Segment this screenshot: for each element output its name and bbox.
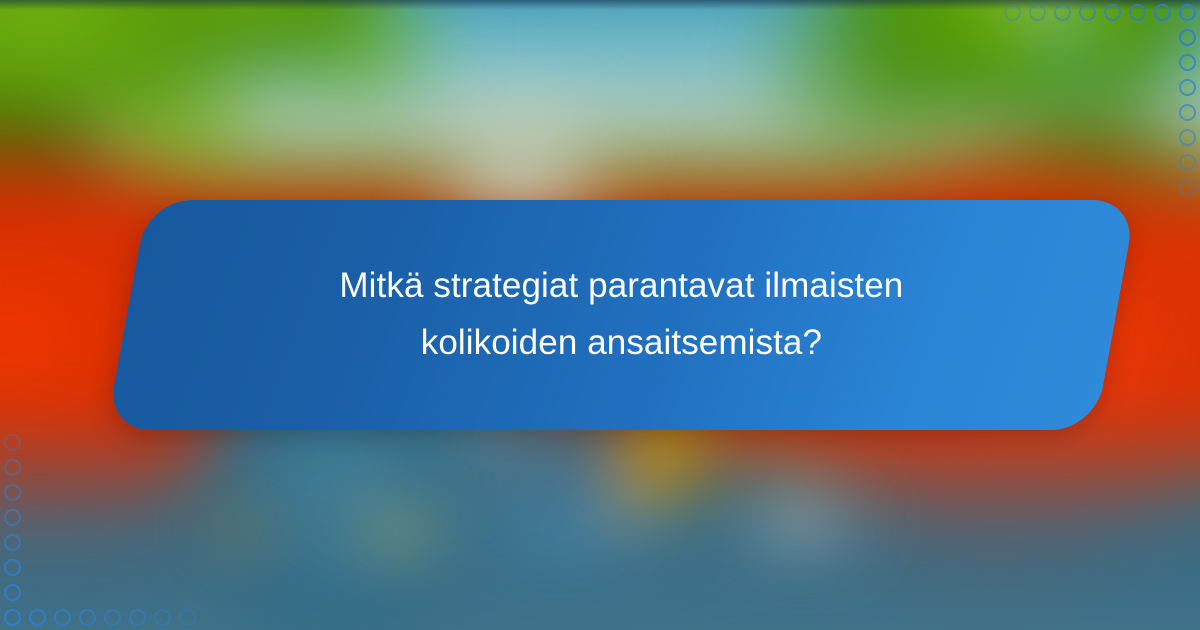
question-card-shape: Mitkä strategiat parantavat ilmaisten ko…: [106, 200, 1137, 430]
question-card-wrapper: Mitkä strategiat parantavat ilmaisten ko…: [0, 200, 1200, 430]
question-text: Mitkä strategiat parantavat ilmaisten ko…: [271, 258, 971, 371]
question-card-banner: Mitkä strategiat parantavat ilmaisten ko…: [0, 0, 1200, 630]
question-card-content: Mitkä strategiat parantavat ilmaisten ko…: [127, 200, 1116, 430]
